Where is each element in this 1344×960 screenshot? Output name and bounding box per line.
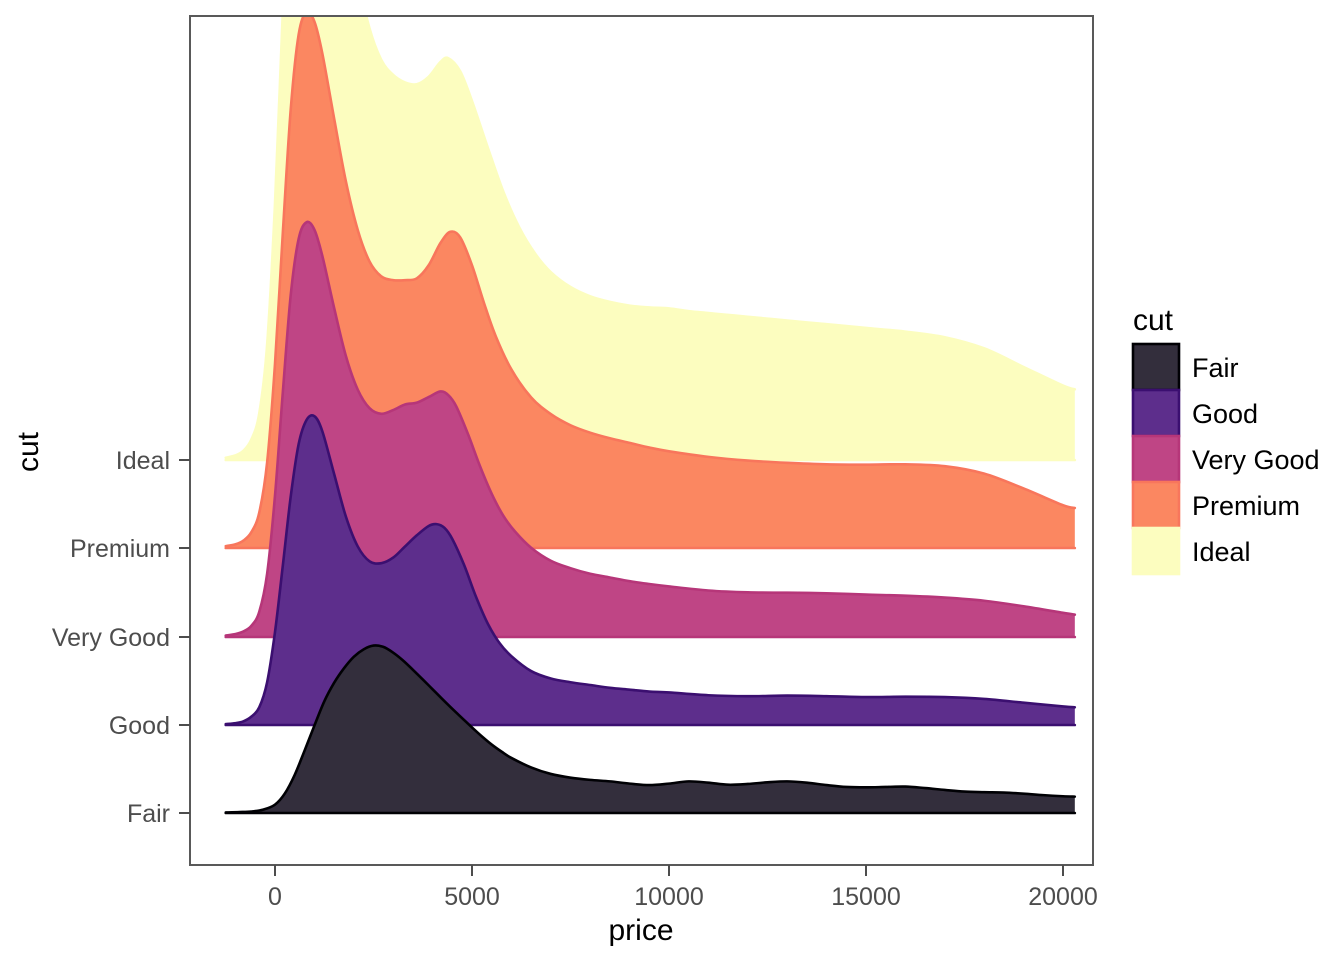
x-tick-label: 0 [268, 883, 282, 911]
x-axis-title: price [608, 914, 673, 947]
legend-label-ideal: Ideal [1192, 537, 1251, 567]
x-tick-label: 15000 [831, 883, 901, 911]
legend-swatch-very-good [1133, 436, 1179, 482]
legend-label-good: Good [1192, 399, 1258, 429]
y-tick-label-premium: Premium [70, 535, 170, 563]
legend-swatch-fair [1133, 344, 1179, 390]
y-tick-label-good: Good [109, 712, 170, 740]
y-axis: FairGoodVery GoodPremiumIdeal [52, 447, 190, 828]
x-axis: 05000100001500020000 [268, 865, 1098, 911]
y-tick-label-very-good: Very Good [52, 624, 170, 652]
chart-root: 05000100001500020000 FairGoodVery GoodPr… [0, 0, 1344, 960]
y-axis-title: cut [12, 431, 45, 472]
legend-label-fair: Fair [1192, 353, 1239, 383]
legend: cut FairGoodVery GoodPremiumIdeal [1133, 304, 1320, 574]
legend-swatch-ideal [1133, 528, 1179, 574]
y-tick-label-fair: Fair [127, 800, 170, 828]
x-tick-label: 20000 [1028, 883, 1098, 911]
legend-label-premium: Premium [1192, 491, 1300, 521]
legend-swatch-premium [1133, 482, 1179, 528]
legend-swatch-good [1133, 390, 1179, 436]
y-tick-label-ideal: Ideal [116, 447, 170, 475]
legend-title: cut [1133, 304, 1174, 337]
x-tick-label: 5000 [444, 883, 500, 911]
legend-label-very-good: Very Good [1192, 445, 1320, 475]
ridgeline-chart: 05000100001500020000 FairGoodVery GoodPr… [0, 0, 1344, 960]
legend-items: FairGoodVery GoodPremiumIdeal [1133, 344, 1320, 574]
x-tick-label: 10000 [634, 883, 704, 911]
